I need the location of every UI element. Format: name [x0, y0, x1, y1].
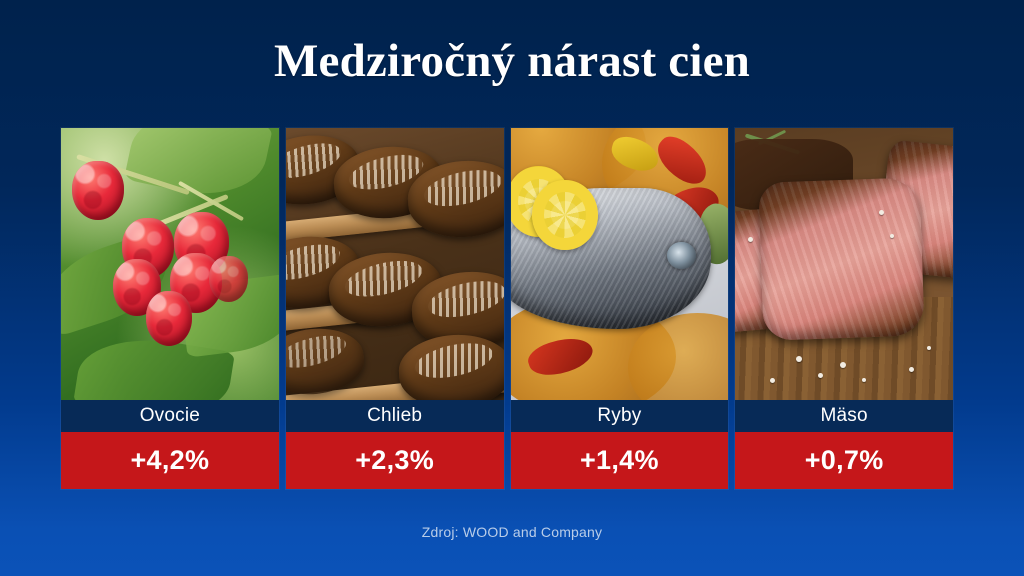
salt-grain: [890, 234, 894, 238]
fish-eye: [667, 242, 695, 269]
price-card-maso[interactable]: Mäso +0,7%: [735, 128, 953, 489]
card-value: +4,2%: [61, 432, 279, 489]
steak-photo: [735, 128, 953, 400]
lemon-slice: [532, 180, 597, 251]
raspberries-photo: [61, 128, 279, 400]
salt-grain: [927, 346, 931, 350]
price-card-chlieb[interactable]: Chlieb +2,3%: [286, 128, 504, 489]
salt-grain: [840, 362, 846, 368]
salt-grain: [879, 210, 884, 215]
card-label: Mäso: [735, 400, 953, 432]
card-label: Chlieb: [286, 400, 504, 432]
infographic-slide: Medziročný nárast cien Ovocie +4,: [0, 0, 1024, 576]
raspberry-shape: [209, 256, 248, 302]
bread-loaves-photo: [286, 128, 504, 400]
price-card-ovocie[interactable]: Ovocie +4,2%: [61, 128, 279, 489]
page-title: Medziročný nárast cien: [0, 34, 1024, 88]
bread-loaf: [397, 332, 503, 400]
fish-dish-photo: [511, 128, 729, 400]
raspberry-shape: [72, 161, 124, 221]
price-card-ryby[interactable]: Ryby +1,4%: [511, 128, 729, 489]
card-value: +0,7%: [735, 432, 953, 489]
raspberry-shape: [146, 291, 192, 345]
price-cards-row: Ovocie +4,2% Chlieb +2,3%: [61, 128, 953, 489]
card-label: Ryby: [511, 400, 729, 432]
card-value: +2,3%: [286, 432, 504, 489]
salt-grain: [818, 373, 823, 378]
card-label: Ovocie: [61, 400, 279, 432]
source-caption: Zdroj: WOOD and Company: [0, 524, 1024, 540]
salt-grain: [862, 378, 866, 382]
card-value: +1,4%: [511, 432, 729, 489]
steak-slice: [759, 177, 926, 340]
